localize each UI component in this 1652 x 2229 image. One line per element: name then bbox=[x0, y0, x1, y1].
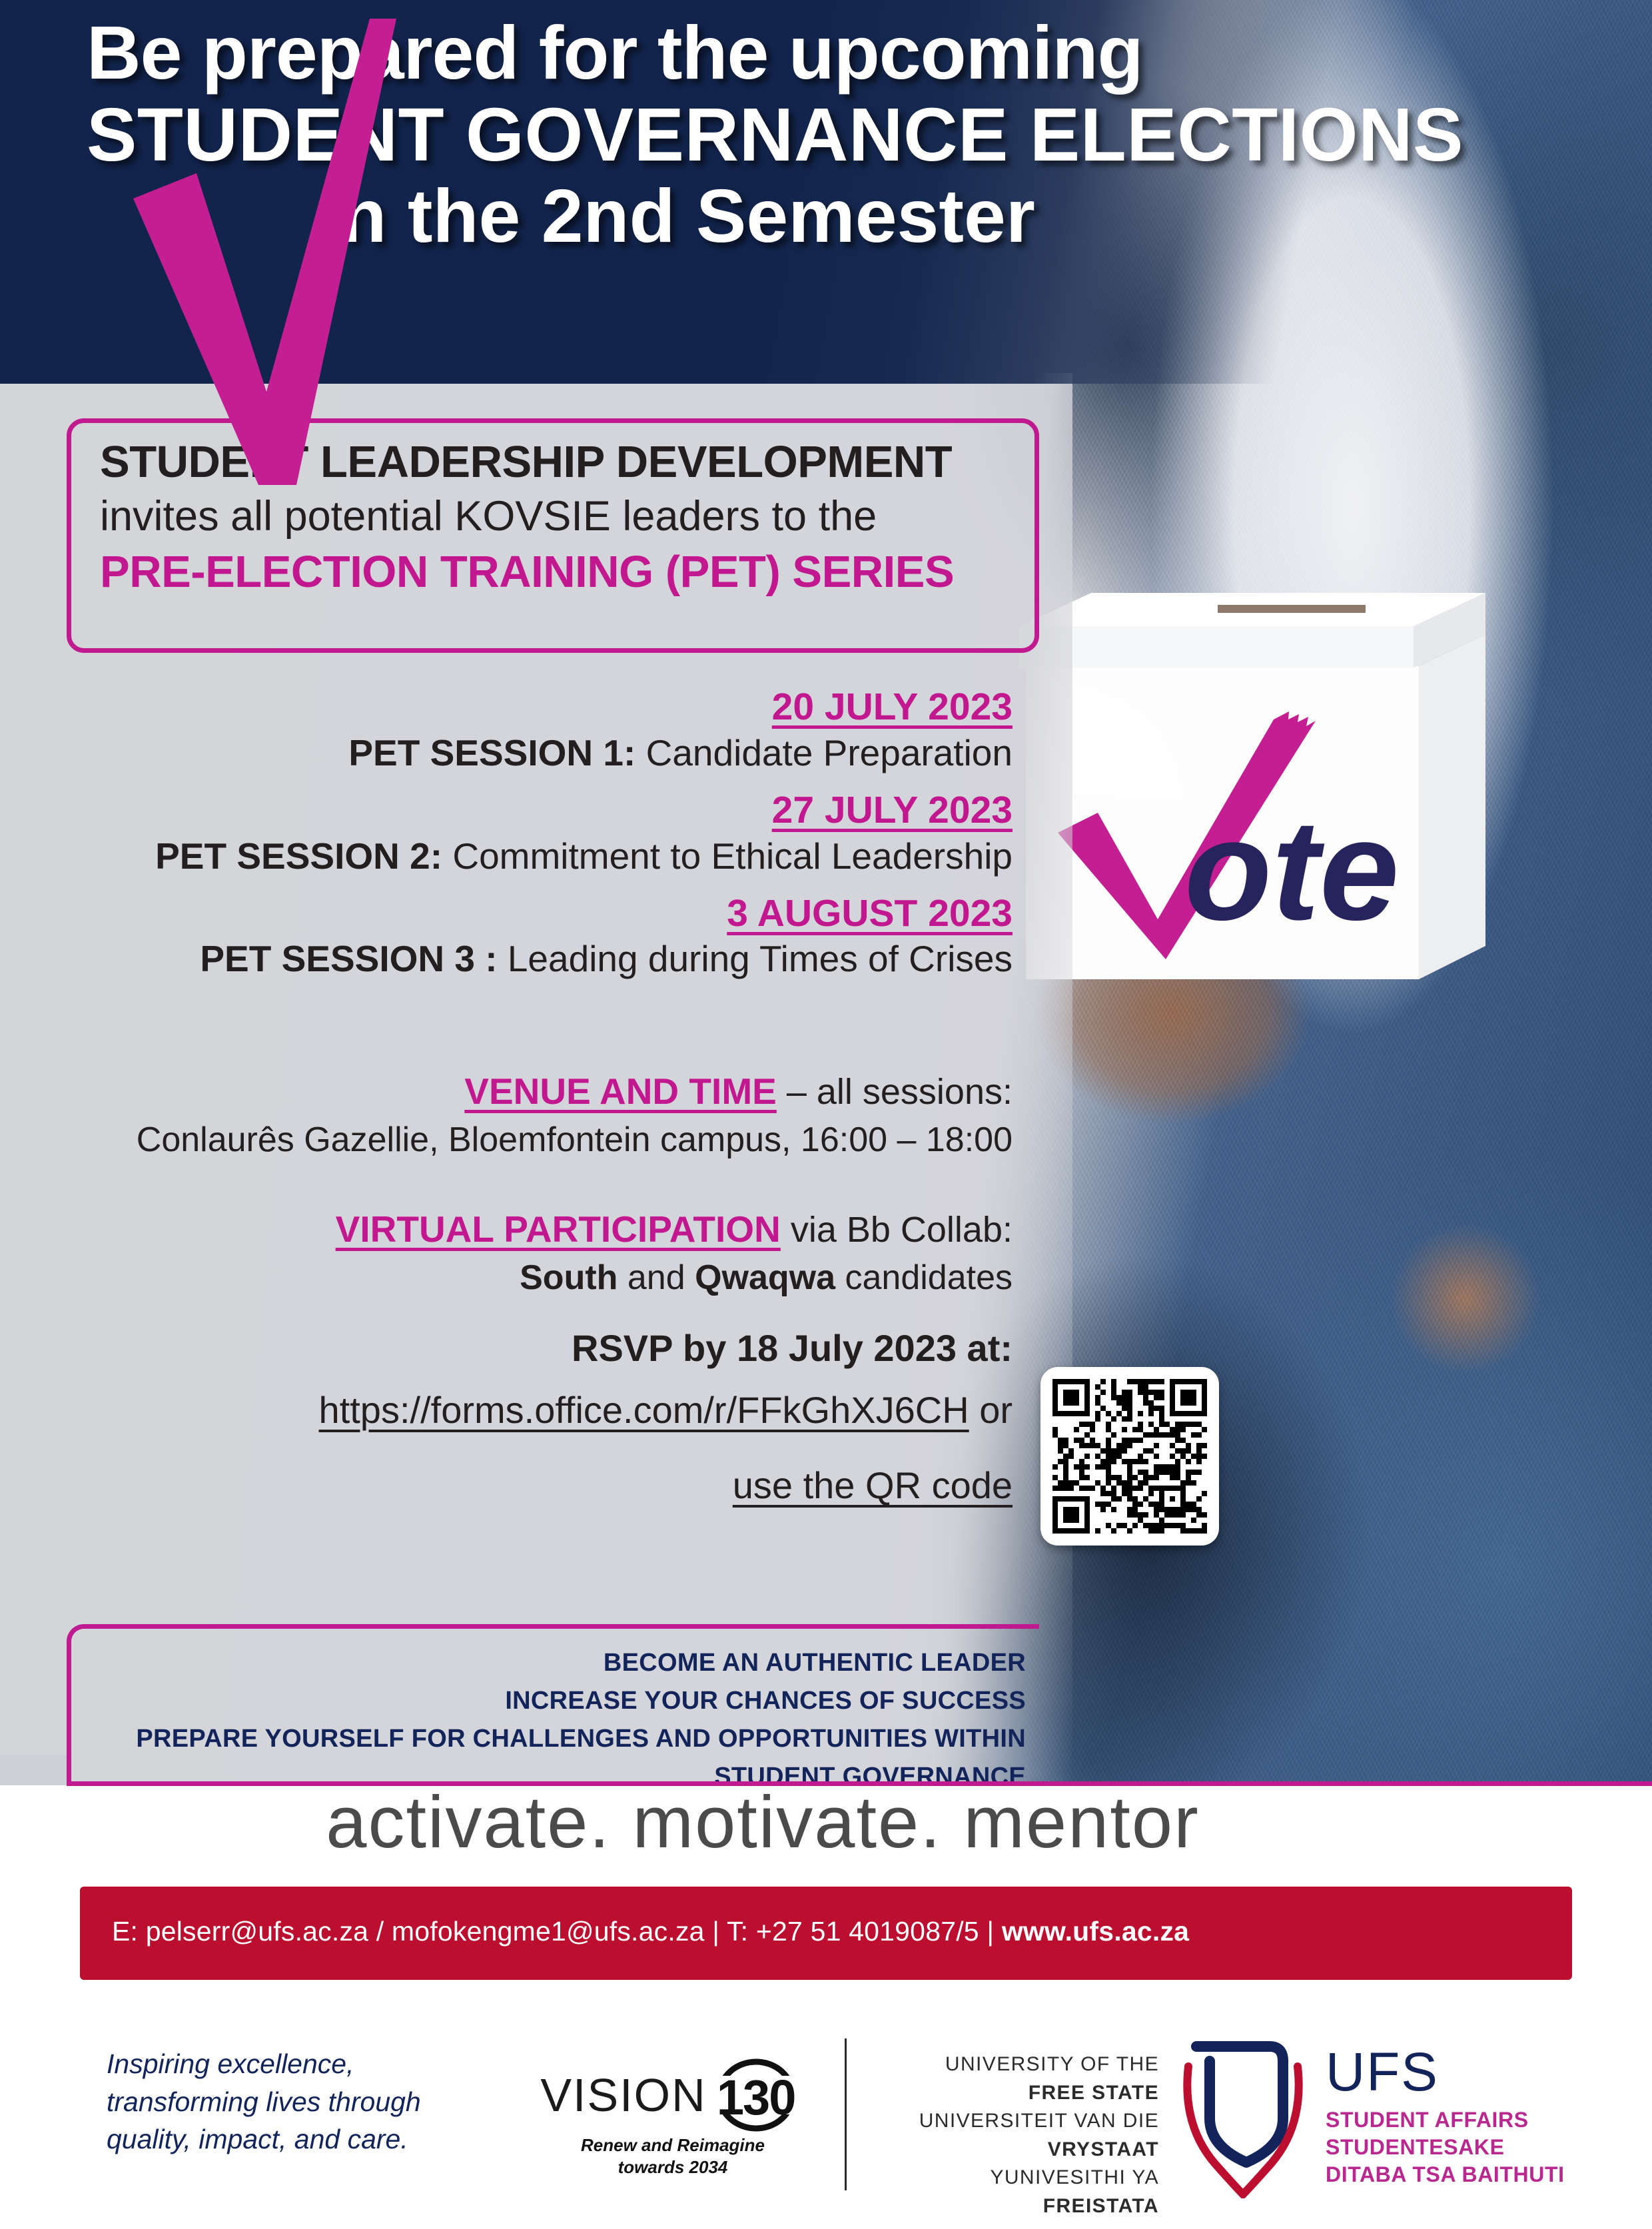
session-label-2: PET SESSION 2: bbox=[155, 835, 442, 877]
intro-line-3: PRE-ELECTION TRAINING (PET) SERIES bbox=[100, 546, 1046, 598]
virtual-heading-row: VIRTUAL PARTICIPATION via Bb Collab: bbox=[40, 1207, 1013, 1252]
qr-code-matrix bbox=[1052, 1379, 1207, 1534]
univ-name-line-5: YUNIVESITHI YA bbox=[879, 2164, 1159, 2192]
univ-name-line-2: FREE STATE bbox=[1029, 2082, 1159, 2104]
univ-name-line-3: UNIVERSITEIT VAN DIE bbox=[879, 2107, 1159, 2136]
virtual-heading: VIRTUAL PARTICIPATION bbox=[336, 1208, 781, 1250]
student-affairs-line-3: DITABA TSA BAITHUTI bbox=[1326, 2161, 1592, 2188]
footer-divider bbox=[845, 2038, 847, 2190]
vision130-logo: VISION 130 Renew and Reimagine towards 2… bbox=[513, 2058, 833, 2178]
virtual-heading-rest: via Bb Collab: bbox=[781, 1210, 1013, 1250]
contact-sep-1: | bbox=[705, 1916, 727, 1947]
contact-phone-label: T: bbox=[727, 1916, 756, 1947]
ballot-box-icon: ote bbox=[1019, 520, 1525, 1039]
contact-phone: +27 51 4019087/5 bbox=[756, 1916, 979, 1947]
venue-heading-rest: – all sessions: bbox=[777, 1072, 1013, 1112]
rsvp-group: RSVP by 18 July 2023 at: https://forms.o… bbox=[40, 1326, 1013, 1508]
vision-word: VISION bbox=[540, 2068, 706, 2122]
venue-heading-row: VENUE AND TIME – all sessions: bbox=[40, 1069, 1013, 1114]
tagline-text: activate. motivate. mentor bbox=[0, 1780, 1525, 1865]
vision-number-wrap: 130 bbox=[707, 2058, 805, 2132]
ufs-brand-block: UFS STUDENT AFFAIRS STUDENTESAKE DITABA … bbox=[1326, 2046, 1592, 2188]
session-topic-3: Leading during Times of Crises bbox=[498, 938, 1013, 979]
headline-line-3: in the 2nd Semester bbox=[87, 178, 1552, 254]
univ-name-line-6: FREISTATA bbox=[1043, 2195, 1159, 2217]
session-label-1: PET SESSION 1: bbox=[348, 732, 635, 773]
contact-sep-2: | bbox=[979, 1916, 1002, 1947]
venue-spacer bbox=[40, 1161, 1013, 1202]
vision130-mark: VISION 130 bbox=[513, 2058, 833, 2132]
headline-line-2: STUDENT GOVERNANCE ELECTIONS bbox=[87, 97, 1552, 173]
session-date-3: 3 AUGUST 2023 bbox=[40, 893, 1013, 935]
header-banner: Be prepared for the upcoming STUDENT GOV… bbox=[0, 0, 1652, 384]
venue-heading: VENUE AND TIME bbox=[464, 1071, 777, 1112]
headline-group: Be prepared for the upcoming STUDENT GOV… bbox=[87, 15, 1552, 254]
session-topic-2: Commitment to Ethical Leadership bbox=[442, 835, 1013, 877]
virtual-detail-mid: and bbox=[618, 1258, 695, 1297]
poster-canvas: ote Be prepared for the upcoming STUDENT… bbox=[0, 0, 1652, 2229]
contact-text: E: pelserr@ufs.ac.za / mofokengme1@ufs.a… bbox=[112, 1916, 1577, 1947]
virtual-campus-2: Qwaqwa bbox=[695, 1258, 835, 1297]
university-name-block: UNIVERSITY OF THE FREE STATE UNIVERSITEI… bbox=[879, 2050, 1159, 2221]
vision-subline-1: Renew and Reimagine bbox=[513, 2134, 833, 2156]
benefit-line-2: INCREASE YOUR CHANCES OF SUCCESS bbox=[80, 1682, 1026, 1720]
rsvp-url-row: https://forms.office.com/r/FFkGhXJ6CH or bbox=[40, 1388, 1013, 1432]
student-affairs-line-1: STUDENT AFFAIRS bbox=[1326, 2106, 1592, 2134]
intro-line-2: invites all potential KOVSIE leaders to … bbox=[100, 492, 1046, 541]
venue-virtual-group: VENUE AND TIME – all sessions: Conlaurês… bbox=[40, 1065, 1013, 1300]
student-affairs-block: STUDENT AFFAIRS STUDENTESAKE DITABA TSA … bbox=[1326, 2106, 1592, 2188]
venue-detail: Conlaurês Gazellie, Bloemfontein campus,… bbox=[40, 1119, 1013, 1161]
benefit-line-1: BECOME AN AUTHENTIC LEADER bbox=[80, 1644, 1026, 1682]
vision-number: 130 bbox=[707, 2069, 805, 2126]
session-topic-1: Candidate Preparation bbox=[635, 732, 1013, 773]
session-item-3: 3 AUGUST 2023 PET SESSION 3 : Leading du… bbox=[40, 893, 1013, 981]
ufs-acronym: UFS bbox=[1326, 2046, 1592, 2098]
session-title-1: PET SESSION 1: Candidate Preparation bbox=[40, 731, 1013, 775]
contact-emails[interactable]: pelserr@ufs.ac.za / mofokengme1@ufs.ac.z… bbox=[146, 1916, 705, 1947]
rsvp-qr-hint: use the QR code bbox=[733, 1464, 1013, 1506]
rsvp-qr-hint-row: use the QR code bbox=[40, 1463, 1013, 1508]
contact-website[interactable]: www.ufs.ac.za bbox=[1002, 1916, 1189, 1947]
benefit-line-3: PREPARE YOURSELF FOR CHALLENGES AND OPPO… bbox=[80, 1720, 1026, 1758]
svg-text:ote: ote bbox=[1184, 789, 1400, 950]
intro-text-group: STUDENT LEADERSHIP DEVELOPMENT invites a… bbox=[100, 436, 1046, 598]
benefits-list: BECOME AN AUTHENTIC LEADER INCREASE YOUR… bbox=[80, 1644, 1026, 1796]
intro-line-1: STUDENT LEADERSHIP DEVELOPMENT bbox=[100, 436, 1046, 488]
university-motto: Inspiring excellence, transforming lives… bbox=[107, 2045, 453, 2158]
ufs-shield-icon bbox=[1170, 2032, 1323, 2198]
session-label-3: PET SESSION 3 : bbox=[200, 938, 497, 979]
session-date-2: 27 JULY 2023 bbox=[40, 789, 1013, 832]
session-list: 20 JULY 2023 PET SESSION 1: Candidate Pr… bbox=[40, 686, 1013, 995]
session-item-2: 27 JULY 2023 PET SESSION 2: Commitment t… bbox=[40, 789, 1013, 878]
vision-subline-2: towards 2034 bbox=[513, 2156, 833, 2178]
headline-line-1: Be prepared for the upcoming bbox=[87, 15, 1552, 91]
contact-email-label: E: bbox=[112, 1916, 146, 1947]
virtual-campus-1: South bbox=[520, 1258, 618, 1297]
virtual-detail-post: candidates bbox=[835, 1258, 1013, 1297]
virtual-detail: South and Qwaqwa candidates bbox=[40, 1257, 1013, 1299]
session-date-1: 20 JULY 2023 bbox=[40, 686, 1013, 729]
univ-name-line-4: VRYSTAAT bbox=[1048, 2138, 1159, 2160]
session-title-3: PET SESSION 3 : Leading during Times of … bbox=[40, 937, 1013, 981]
session-title-2: PET SESSION 2: Commitment to Ethical Lea… bbox=[40, 834, 1013, 878]
univ-name-line-1: UNIVERSITY OF THE bbox=[879, 2050, 1159, 2079]
rsvp-url-link[interactable]: https://forms.office.com/r/FFkGhXJ6CH bbox=[319, 1389, 969, 1431]
tagline-rule-cap bbox=[67, 1732, 71, 1785]
qr-code-icon[interactable] bbox=[1040, 1367, 1219, 1546]
rsvp-deadline: RSVP by 18 July 2023 at: bbox=[40, 1326, 1013, 1370]
student-affairs-line-2: STUDENTESAKE bbox=[1326, 2134, 1592, 2161]
rsvp-url-suffix: or bbox=[969, 1389, 1013, 1431]
session-item-1: 20 JULY 2023 PET SESSION 1: Candidate Pr… bbox=[40, 686, 1013, 775]
